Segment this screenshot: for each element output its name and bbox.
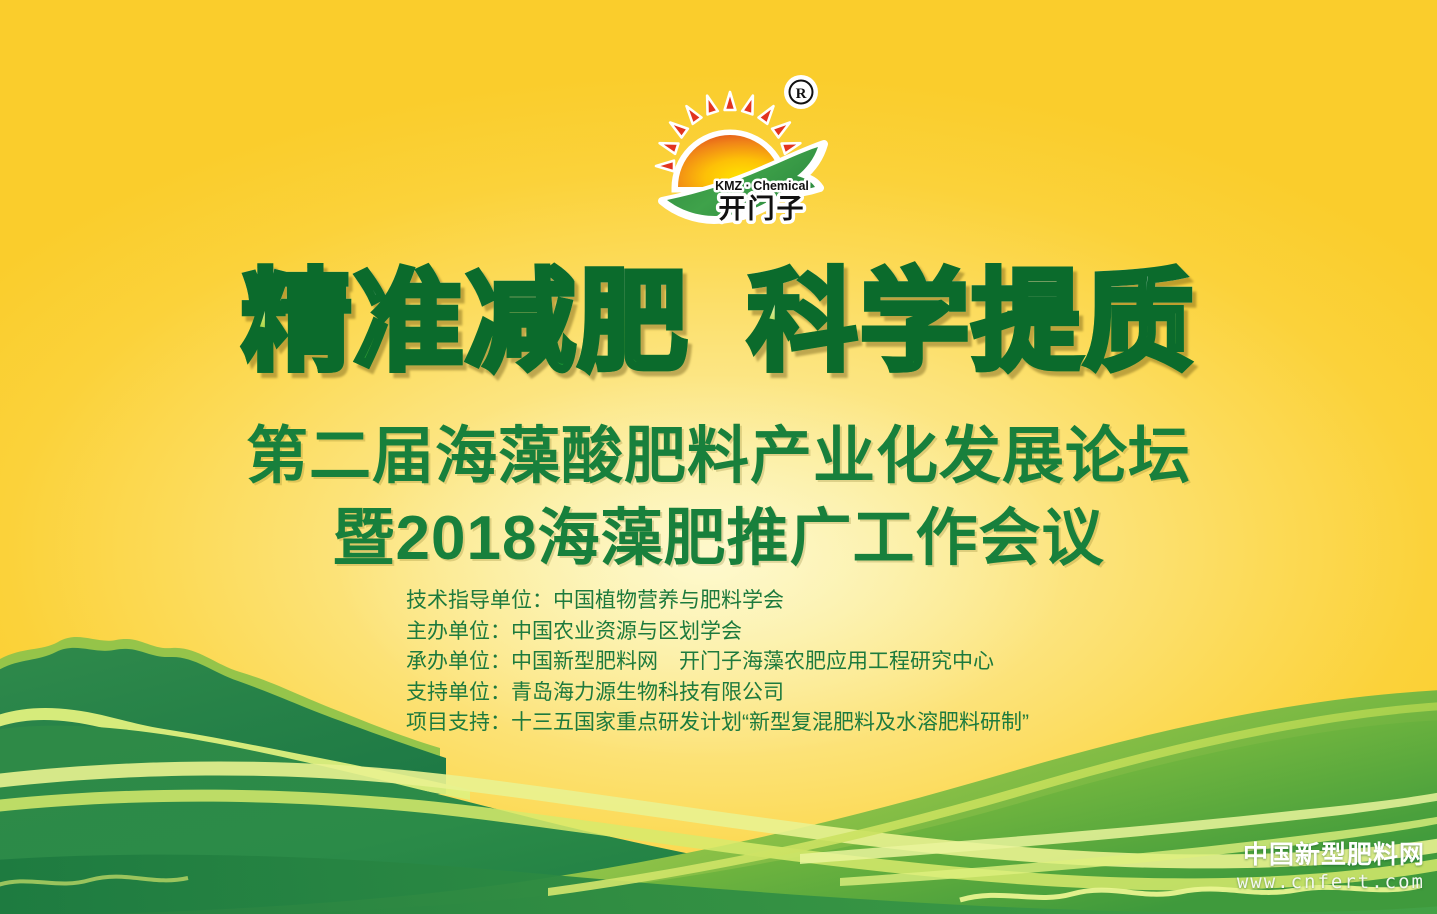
site-watermark: 中国新型肥料网 www.cnfert.com <box>1237 843 1425 892</box>
watermark-site-name: 中国新型肥料网 <box>1237 843 1425 868</box>
page-title: 精准减肥科学提质 <box>0 268 1437 378</box>
headline-part-1: 精准减肥 <box>242 268 690 378</box>
subtitle-line-1: 第二届海藻酸肥料产业化发展论坛 <box>0 405 1437 495</box>
conference-poster: KMZ · Chemical KMZ · Chemical 开门子 开门子 R … <box>0 0 1437 914</box>
svg-text:KMZ · Chemical: KMZ · Chemical <box>715 179 809 193</box>
info-line-technical-guidance: 技术指导单位：中国植物营养与肥料学会 <box>406 586 1166 617</box>
watermark-site-url: www.cnfert.com <box>1237 873 1425 892</box>
info-line-supporter: 支持单位：青岛海力源生物科技有限公司 <box>406 678 1166 709</box>
registered-trademark-icon: R <box>784 75 818 109</box>
info-line-host: 主办单位：中国农业资源与区划学会 <box>406 617 1166 648</box>
kmz-chemical-logo: KMZ · Chemical KMZ · Chemical 开门子 开门子 R <box>634 70 839 245</box>
organizer-info-block: 技术指导单位：中国植物营养与肥料学会 主办单位：中国农业资源与区划学会 承办单位… <box>406 586 1166 739</box>
headline-part-2: 科学提质 <box>748 268 1196 378</box>
info-line-organizer: 承办单位：中国新型肥料网 开门子海藻农肥应用工程研究中心 <box>406 647 1166 678</box>
svg-text:R: R <box>796 86 807 102</box>
info-line-project-support: 项目支持：十三五国家重点研发计划“新型复混肥料及水溶肥料研制” <box>406 708 1166 739</box>
svg-text:开门子: 开门子 <box>719 194 806 224</box>
logo-brand-text: KMZ · Chemical KMZ · Chemical 开门子 开门子 <box>715 179 809 224</box>
subtitle-line-2: 暨2018海藻肥推广工作会议 <box>0 487 1437 577</box>
